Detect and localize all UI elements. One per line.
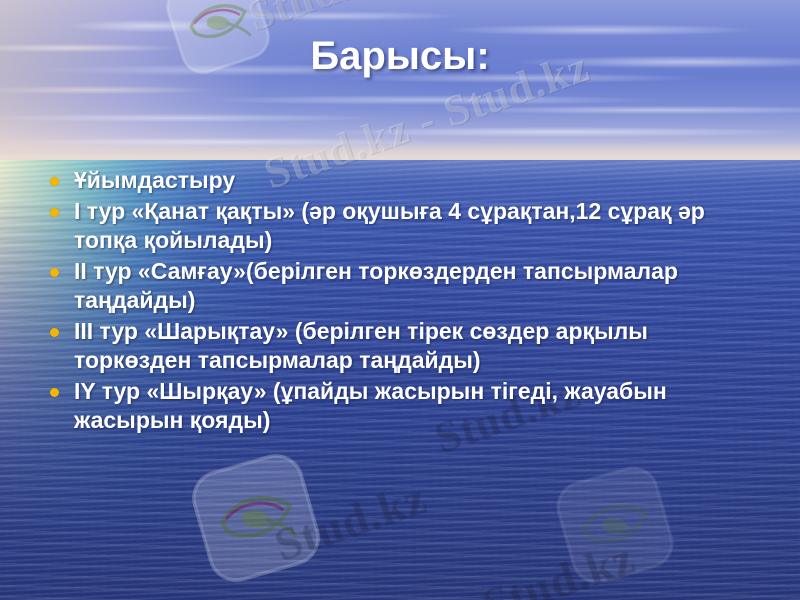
list-item-label: II тур «Самғау»(берілген торкөздерден та… [74, 258, 678, 314]
presentation-slide: Stud.kz Stud.kz - Stud.kz Stud.kz Stud.k… [0, 0, 800, 600]
bullet-marker-icon [50, 328, 59, 337]
list-item: I тур «Қанат қақты» (әр оқушыға 4 сұрақт… [42, 197, 762, 256]
list-item: Ұйымдастыру [42, 166, 762, 196]
bullet-marker-icon [50, 177, 59, 186]
list-item: II тур «Самғау»(берілген торкөздерден та… [42, 257, 762, 316]
list-item-label: I тур «Қанат қақты» (әр оқушыға 4 сұрақт… [74, 198, 705, 254]
list-item-label: III тур «Шарықтау» (берілген тірек сөзде… [74, 318, 648, 374]
slide-bullet-list: Ұйымдастыру I тур «Қанат қақты» (әр оқуш… [42, 166, 762, 437]
list-item: IY тур «Шырқау» (ұпайды жасырын тігеді, … [42, 377, 762, 436]
list-item-label: IY тур «Шырқау» (ұпайды жасырын тігеді, … [74, 378, 667, 434]
bullet-marker-icon [50, 388, 59, 397]
list-item: III тур «Шарықтау» (берілген тірек сөзде… [42, 317, 762, 376]
slide-title: Барысы: [0, 33, 800, 79]
list-item-label: Ұйымдастыру [74, 167, 235, 193]
bullet-marker-icon [50, 208, 59, 217]
bullet-marker-icon [50, 268, 59, 277]
